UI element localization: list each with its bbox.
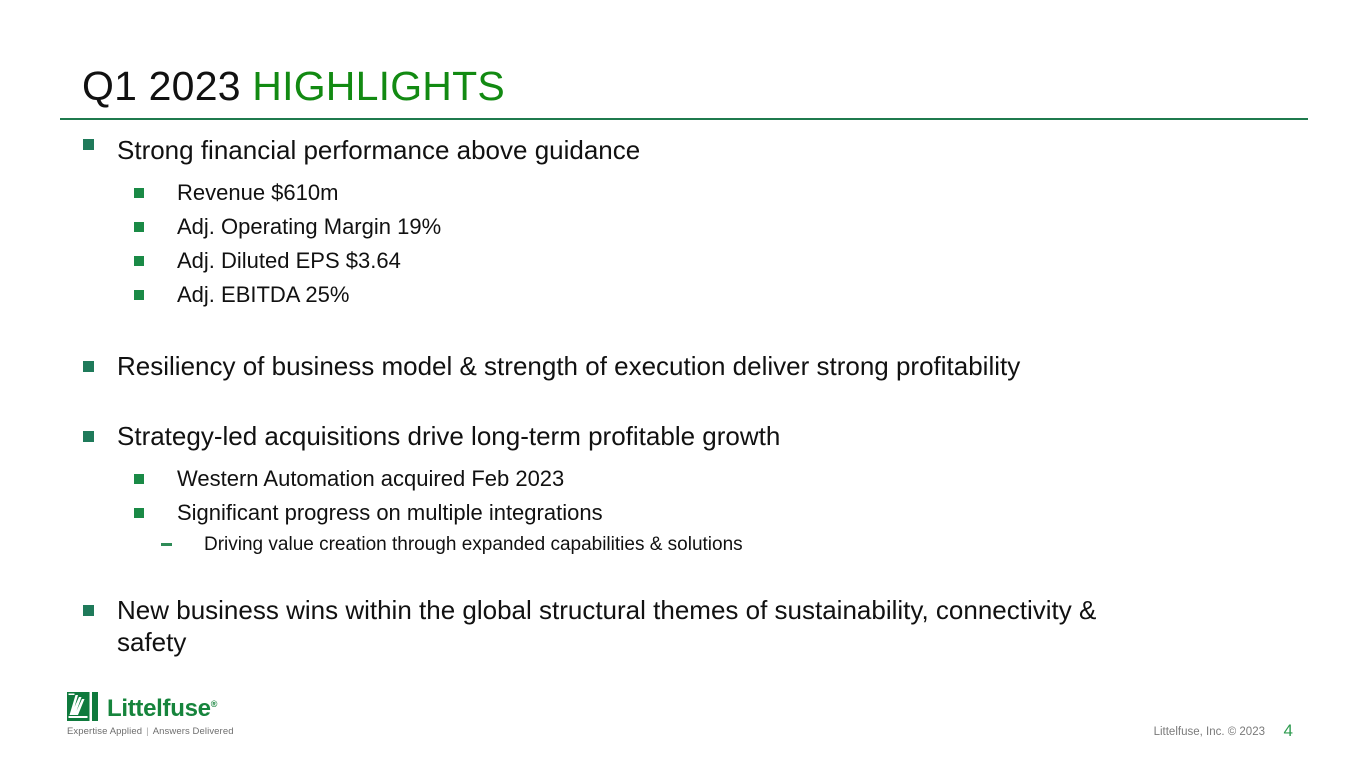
bullet-square-icon bbox=[83, 431, 94, 442]
bullet-text: Strategy-led acquisitions drive long-ter… bbox=[117, 421, 780, 451]
bullet-square-icon bbox=[134, 508, 144, 518]
title-accent: HIGHLIGHTS bbox=[252, 63, 505, 109]
bullet-square-icon bbox=[134, 474, 144, 484]
bullet-level-2: Western Automation acquired Feb 2023 bbox=[0, 462, 1365, 496]
bullet-text: Revenue $610m bbox=[177, 180, 338, 205]
spacer bbox=[0, 452, 1365, 462]
bullet-square-icon bbox=[134, 222, 144, 232]
brand-tagline: Expertise Applied|Answers Delivered bbox=[67, 726, 307, 737]
bullet-square-icon bbox=[83, 605, 94, 616]
bullet-text: Adj. Diluted EPS $3.64 bbox=[177, 248, 401, 273]
copyright-text: Littelfuse, Inc. © 2023 bbox=[1154, 726, 1265, 738]
bullet-level-1: Strong financial performance above guida… bbox=[0, 128, 1365, 166]
page-number: 4 bbox=[1284, 721, 1293, 741]
bullet-text: Western Automation acquired Feb 2023 bbox=[177, 466, 564, 491]
bullet-text: Significant progress on multiple integra… bbox=[177, 500, 603, 525]
bullet-text: New business wins within the global stru… bbox=[117, 595, 1096, 657]
spacer bbox=[0, 312, 1365, 350]
littelfuse-wordmark: Littelfuse® bbox=[107, 692, 217, 721]
bullet-square-icon bbox=[134, 188, 144, 198]
bullet-text: Strong financial performance above guida… bbox=[117, 135, 640, 165]
bullet-square-icon bbox=[134, 256, 144, 266]
bullet-square-icon bbox=[83, 139, 94, 150]
bullet-text: Adj. EBITDA 25% bbox=[177, 282, 349, 307]
bullet-level-1: New business wins within the global stru… bbox=[0, 594, 1365, 658]
bullet-text: Resiliency of business model & strength … bbox=[117, 351, 1020, 381]
bullet-dash-icon bbox=[161, 543, 172, 546]
registered-mark-icon: ® bbox=[211, 699, 217, 709]
tagline-separator: | bbox=[142, 726, 153, 737]
tagline-right: Answers Delivered bbox=[153, 726, 234, 737]
bullet-level-2: Revenue $610m bbox=[0, 176, 1365, 210]
bullet-text: Adj. Operating Margin 19% bbox=[177, 214, 441, 239]
bullet-text: Driving value creation through expanded … bbox=[204, 534, 743, 555]
bullet-square-icon bbox=[83, 361, 94, 372]
title-primary: Q1 2023 bbox=[82, 63, 241, 109]
littelfuse-mark-icon bbox=[67, 692, 98, 721]
tagline-left: Expertise Applied bbox=[67, 726, 142, 737]
bullet-level-2: Adj. Operating Margin 19% bbox=[0, 210, 1365, 244]
spacer bbox=[0, 560, 1365, 594]
bullet-level-2: Adj. EBITDA 25% bbox=[0, 278, 1365, 312]
bullet-list: Strong financial performance above guida… bbox=[0, 128, 1365, 658]
bullet-square-icon bbox=[134, 290, 144, 300]
slide-canvas: Q1 2023 HIGHLIGHTS Strong financial perf… bbox=[0, 0, 1365, 768]
bullet-level-1: Strategy-led acquisitions drive long-ter… bbox=[0, 420, 1365, 452]
brand-logo: Littelfuse® Expertise Applied|Answers De… bbox=[67, 690, 307, 745]
spacer bbox=[0, 382, 1365, 420]
bullet-level-2: Significant progress on multiple integra… bbox=[0, 496, 1365, 530]
title-divider bbox=[60, 118, 1308, 120]
bullet-level-3: Driving value creation through expanded … bbox=[0, 530, 1365, 560]
spacer bbox=[0, 166, 1365, 176]
wordmark-text: Littelfuse bbox=[107, 695, 211, 722]
bullet-level-1: Resiliency of business model & strength … bbox=[0, 350, 1365, 382]
page-title: Q1 2023 HIGHLIGHTS bbox=[82, 62, 505, 110]
bullet-level-2: Adj. Diluted EPS $3.64 bbox=[0, 244, 1365, 278]
